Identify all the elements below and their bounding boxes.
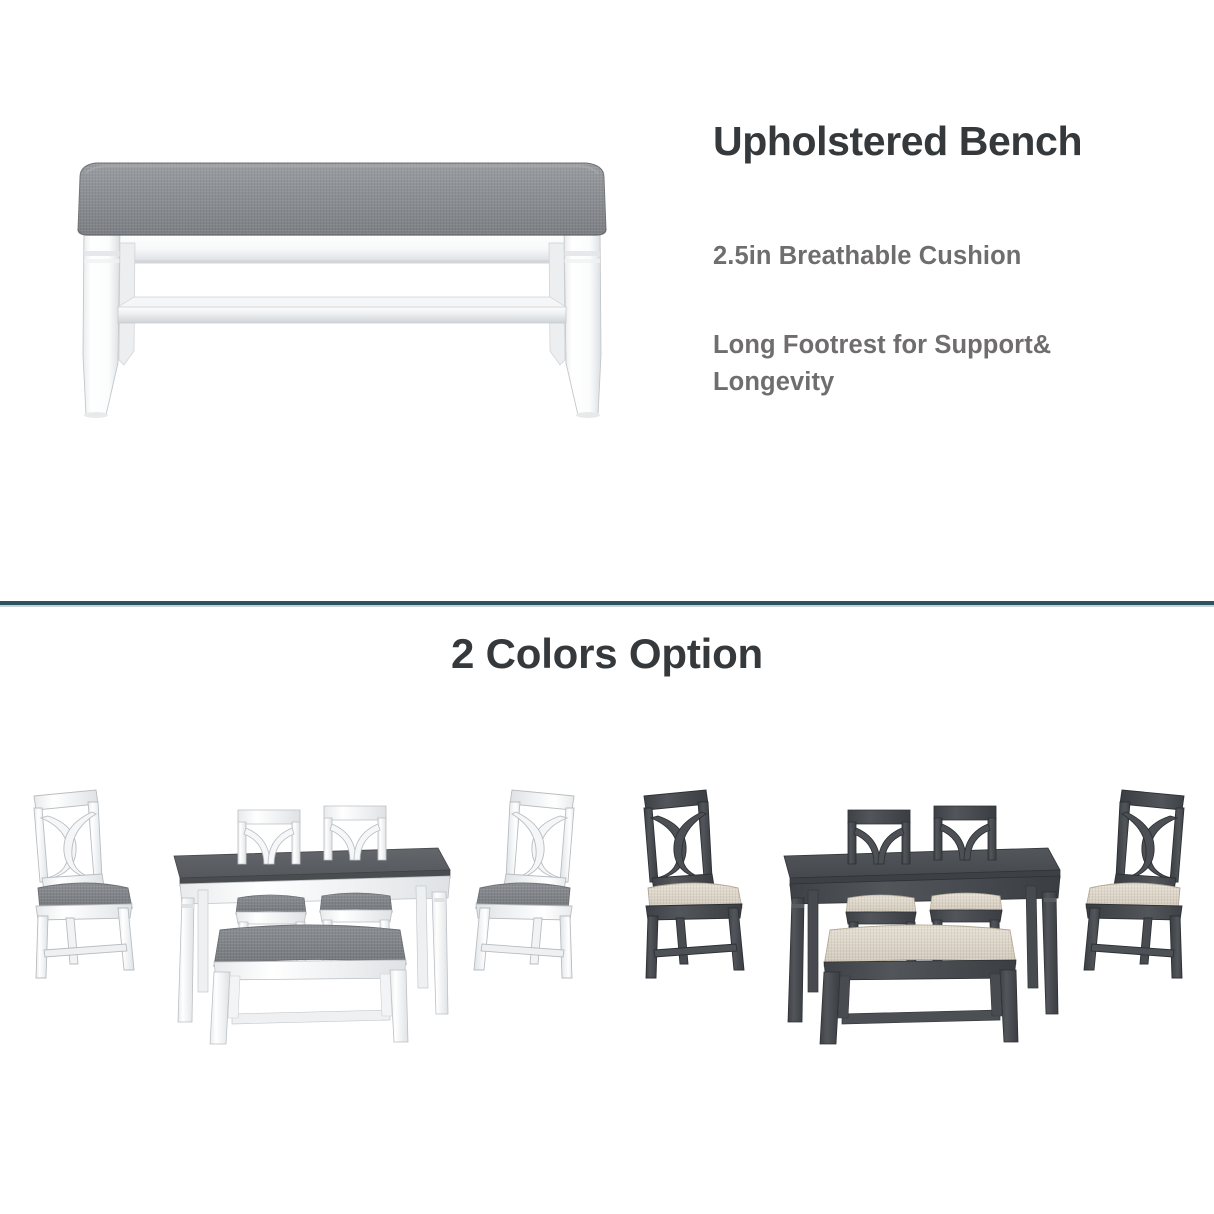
bench-footrest-stretcher xyxy=(118,297,566,323)
product-detail-page: Upholstered Bench 2.5in Breathable Cushi… xyxy=(0,0,1214,1214)
white-dining-set-image xyxy=(8,778,600,1078)
feature-cushion: 2.5in Breathable Cushion xyxy=(713,238,1183,274)
feature-footrest-line1: Long Footrest for Support& xyxy=(713,331,1051,359)
bench-cushion xyxy=(78,163,606,235)
gray-bench xyxy=(820,925,1018,1044)
gray-dining-set-image xyxy=(618,778,1210,1078)
bench-leg-right xyxy=(564,227,601,418)
white-chair-left xyxy=(34,790,134,978)
page-title: Upholstered Bench xyxy=(713,118,1183,165)
section-divider xyxy=(0,596,1214,608)
section-title: 2 Colors Option xyxy=(0,630,1214,678)
bench-hero-image xyxy=(62,155,622,465)
divider-accent-rule xyxy=(0,605,1214,607)
white-bench xyxy=(210,925,408,1044)
feature-footrest: Long Footrest for Support& Longevity xyxy=(713,327,1163,399)
white-chair-right xyxy=(474,790,574,978)
bench-copy-block: Upholstered Bench 2.5in Breathable Cushi… xyxy=(713,118,1183,400)
feature-footrest-line2: Longevity xyxy=(713,364,1163,400)
gray-chair-left xyxy=(644,790,744,978)
bench-leg-left xyxy=(83,227,120,418)
colors-option-section: 2 Colors Option xyxy=(0,608,1214,1214)
upholstered-bench-section: Upholstered Bench 2.5in Breathable Cushi… xyxy=(0,0,1214,603)
gray-chair-right xyxy=(1084,790,1184,978)
bench-apron xyxy=(102,232,582,263)
